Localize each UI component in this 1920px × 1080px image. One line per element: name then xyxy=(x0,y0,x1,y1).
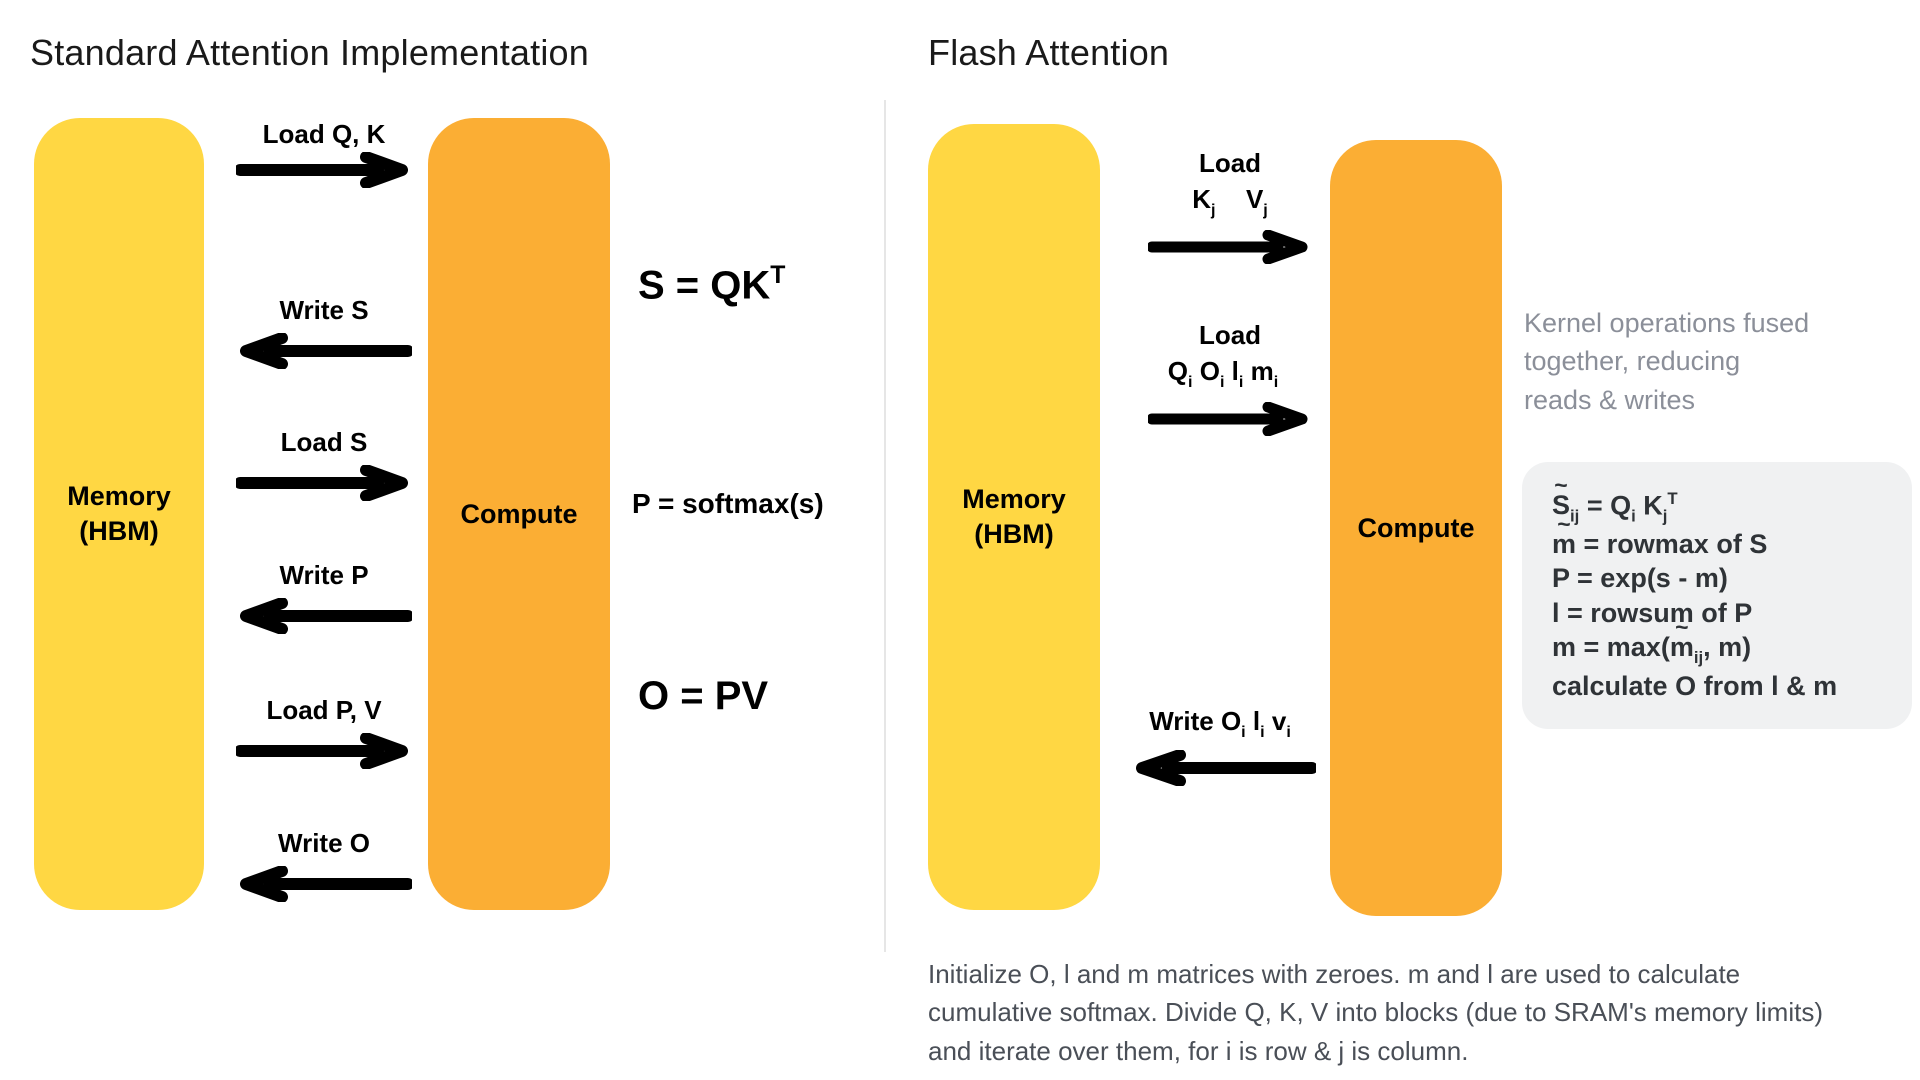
left-formula-2-text: P = softmax(s) xyxy=(632,488,824,519)
left-formula-1-sup: T xyxy=(770,262,785,289)
token-m: mi xyxy=(1251,356,1279,386)
diagram-root: Standard Attention Implementation Memory… xyxy=(0,0,1920,1080)
left-flow-3: Load S xyxy=(236,427,412,501)
left-formula-1-text: S = QK xyxy=(638,263,770,307)
right-flow-1-line1: Load xyxy=(1148,148,1312,180)
left-compute-label: Compute xyxy=(461,497,578,532)
token-O: Oi xyxy=(1200,356,1225,386)
flash-attention-caption: Initialize O, l and m matrices with zero… xyxy=(928,955,1920,1070)
right-memory-label: Memory (HBM) xyxy=(962,482,1066,551)
right-flow-3-line2: Write Oi li vi xyxy=(1124,706,1316,742)
left-flow-3-label: Load S xyxy=(236,427,412,459)
formula-line-6: calculate O from l & m xyxy=(1552,669,1882,704)
arrow-left-icon xyxy=(236,333,412,369)
right-compute-block: Compute xyxy=(1330,140,1502,916)
left-memory-label: Memory (HBM) xyxy=(67,479,171,548)
right-flow-3: Write Oi li vi xyxy=(1124,706,1316,786)
right-flow-1: Load Kj Vj xyxy=(1148,148,1312,264)
left-flow-6-label: Write O xyxy=(236,828,412,860)
left-compute-block: Compute xyxy=(428,118,610,910)
token-K: Kj xyxy=(1192,184,1215,214)
token-WriteO: Write Oi xyxy=(1149,706,1245,736)
left-panel-title: Standard Attention Implementation xyxy=(30,32,589,74)
arrow-left-icon xyxy=(236,866,412,902)
right-compute-label: Compute xyxy=(1358,511,1475,546)
left-flow-5: Load P, V xyxy=(236,695,412,769)
left-flow-1-label: Load Q, K xyxy=(236,118,412,152)
token-l: li xyxy=(1232,356,1244,386)
token-v: vi xyxy=(1272,706,1291,736)
flash-formula-card: ~Sij = Qi KjT ~m = rowmax of S P = exp(s… xyxy=(1522,462,1912,729)
token-V: Vj xyxy=(1246,184,1268,214)
left-formula-3-text: O = PV xyxy=(638,674,768,718)
right-flow-2-line1: Load xyxy=(1148,320,1312,352)
right-panel-title: Flash Attention xyxy=(928,32,1169,74)
right-flow-2: Load Qi Oi li mi xyxy=(1148,320,1312,436)
left-flow-1: Load Q, K xyxy=(236,118,412,188)
left-formula-2: P = softmax(s) xyxy=(632,488,824,520)
left-flow-2: Write S xyxy=(236,295,412,369)
token-Q: Qi xyxy=(1168,356,1193,386)
arrow-right-icon xyxy=(1148,230,1312,264)
left-formula-3: O = PV xyxy=(638,674,768,719)
formula-line-2: ~m = rowmax of S xyxy=(1552,527,1882,562)
kernel-fusion-note: Kernel operations fused together, reduci… xyxy=(1524,304,1894,419)
arrow-left-icon xyxy=(236,598,412,634)
formula-line-3: P = exp(s - m) xyxy=(1552,561,1882,596)
left-flow-5-label: Load P, V xyxy=(236,695,412,727)
left-flow-2-label: Write S xyxy=(236,295,412,327)
right-flow-2-line2: Qi Oi li mi xyxy=(1134,356,1312,392)
left-memory-block: Memory (HBM) xyxy=(34,118,204,910)
arrow-right-icon xyxy=(1148,402,1312,436)
left-flow-6: Write O xyxy=(236,828,412,902)
token-l2: li xyxy=(1253,706,1265,736)
arrow-right-icon xyxy=(236,465,412,501)
right-memory-block: Memory (HBM) xyxy=(928,124,1100,910)
left-formula-1: S = QKT xyxy=(638,262,785,308)
panel-divider xyxy=(884,100,886,952)
left-flow-4-label: Write P xyxy=(236,560,412,592)
left-flow-4: Write P xyxy=(236,560,412,634)
arrow-right-icon xyxy=(236,733,412,769)
formula-line-5: m = max(~mij, m) xyxy=(1552,630,1882,668)
formula-line-1: ~Sij = Qi KjT xyxy=(1552,488,1882,527)
formula-line-4: l = rowsum of P xyxy=(1552,596,1882,631)
arrow-left-icon xyxy=(1124,750,1316,786)
right-flow-1-line2: Kj Vj xyxy=(1148,184,1312,220)
arrow-right-icon xyxy=(236,152,412,188)
